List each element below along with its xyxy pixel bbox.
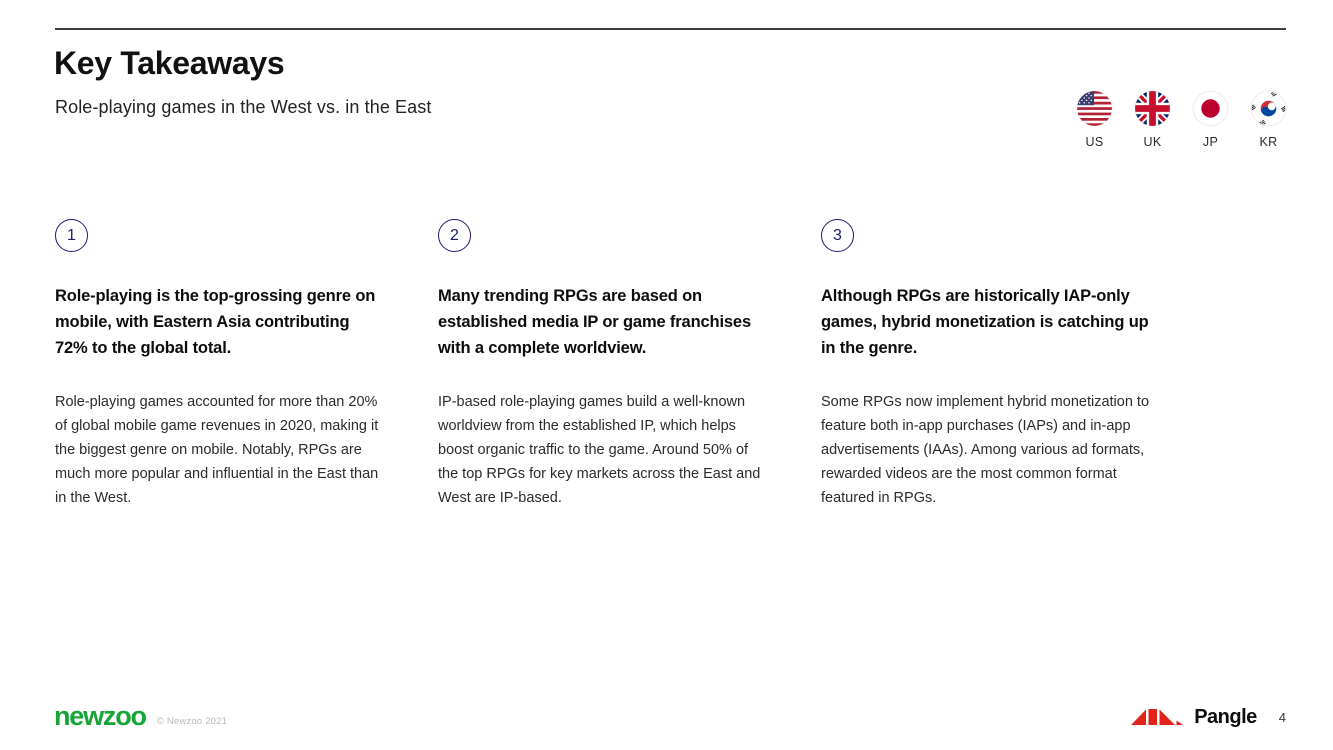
newzoo-logo: newzoo [54, 703, 146, 730]
takeaway-body-1: Role-playing games accounted for more th… [55, 390, 385, 510]
slide: Key Takeaways Role-playing games in the … [0, 0, 1333, 750]
page-number: 4 [1279, 711, 1286, 724]
flag-jp-icon [1193, 91, 1228, 126]
flag-label-kr: KR [1260, 135, 1278, 149]
flag-label-us: US [1086, 135, 1104, 149]
flag-item-jp[interactable]: JP [1193, 91, 1228, 149]
takeaway-body-2: IP-based role-playing games build a well… [438, 390, 768, 510]
pangle-logo-text: Pangle [1194, 707, 1257, 727]
flag-label-uk: UK [1144, 135, 1162, 149]
takeaway-heading-2: Many trending RPGs are based on establis… [438, 283, 768, 361]
flag-item-kr[interactable]: KR [1251, 91, 1286, 149]
copyright-text: © Newzoo 2021 [157, 716, 227, 727]
flag-item-uk[interactable]: UK [1135, 91, 1170, 149]
flag-item-us[interactable]: US [1077, 91, 1112, 149]
takeaways-columns: 1 Role-playing is the top-grossing genre… [55, 219, 1280, 511]
takeaway-heading-1: Role-playing is the top-grossing genre o… [55, 283, 385, 361]
takeaway-number-badge-1: 1 [55, 219, 88, 252]
footer-right: Pangle 4 [1130, 706, 1286, 728]
takeaway-heading-3: Although RPGs are historically IAP-only … [821, 283, 1166, 361]
flag-us-icon [1077, 91, 1112, 126]
takeaway-number-badge-3: 3 [821, 219, 854, 252]
takeaway-number-badge-2: 2 [438, 219, 471, 252]
pangle-logo-icon [1130, 706, 1190, 728]
takeaway-column-2: 2 Many trending RPGs are based on establ… [438, 219, 768, 511]
market-flags: US UK [1077, 91, 1286, 149]
page-title: Key Takeaways [54, 45, 284, 82]
takeaway-column-3: 3 Although RPGs are historically IAP-onl… [821, 219, 1166, 511]
footer-left: newzoo © Newzoo 2021 [54, 703, 227, 730]
flag-uk-icon [1135, 91, 1170, 126]
flag-label-jp: JP [1203, 135, 1218, 149]
takeaway-body-3: Some RPGs now implement hybrid monetizat… [821, 390, 1166, 510]
page-subtitle: Role-playing games in the West vs. in th… [55, 97, 431, 118]
flag-kr-icon [1251, 91, 1286, 126]
header-divider [55, 28, 1286, 30]
takeaway-column-1: 1 Role-playing is the top-grossing genre… [55, 219, 385, 511]
